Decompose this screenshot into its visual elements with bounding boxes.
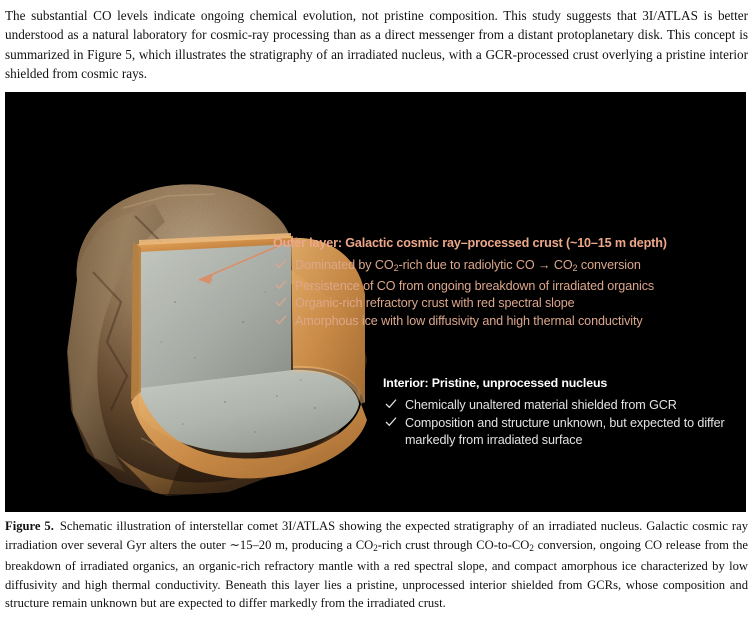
list-item: Composition and structure unknown, but e… — [383, 415, 743, 450]
check-icon — [275, 258, 287, 272]
bullet-text: Persistence of CO from ongoing breakdown… — [295, 279, 654, 293]
check-icon — [385, 398, 397, 412]
figure-panel: Outer layer: Galactic cosmic ray–process… — [5, 92, 746, 512]
bullet-text-cont: -rich due to radiolytic CO → CO — [399, 258, 573, 272]
check-icon — [275, 314, 287, 328]
annotation-outer-heading: Outer layer: Galactic cosmic ray–process… — [273, 235, 743, 251]
figure-page: The substantial CO levels indicate ongoi… — [0, 0, 753, 624]
annotation-interior: Interior: Pristine, unprocessed nucleus … — [383, 375, 743, 450]
bullet-text-cont2: conversion — [577, 258, 640, 272]
caption-label: Figure 5. — [5, 519, 54, 533]
bullet-text: Organic-rich refractory crust with red s… — [295, 296, 575, 310]
bullet-text: Composition and structure unknown, but e… — [405, 416, 725, 448]
interior-bullet-list: Chemically unaltered material shielded f… — [383, 397, 743, 450]
list-item: Chemically unaltered material shielded f… — [383, 397, 743, 415]
check-icon — [275, 279, 287, 293]
bullet-text: Dominated by CO — [295, 258, 394, 272]
annotation-interior-heading: Interior: Pristine, unprocessed nucleus — [383, 375, 743, 391]
list-item: Dominated by CO2-rich due to radiolytic … — [273, 257, 743, 278]
list-item: Organic-rich refractory crust with red s… — [273, 295, 743, 313]
annotation-outer-layer: Outer layer: Galactic cosmic ray–process… — [273, 235, 743, 330]
caption-text-2: -rich crust through CO-to-CO — [378, 538, 530, 552]
list-item: Persistence of CO from ongoing breakdown… — [273, 278, 743, 296]
body-paragraph: The substantial CO levels indicate ongoi… — [5, 6, 748, 84]
figure-caption: Figure 5.Schematic illustration of inter… — [5, 517, 748, 613]
outer-bullet-list: Dominated by CO2-rich due to radiolytic … — [273, 257, 743, 330]
check-icon — [385, 416, 397, 430]
bullet-text: Amorphous ice with low diffusivity and h… — [295, 314, 643, 328]
check-icon — [275, 296, 287, 310]
list-item: Amorphous ice with low diffusivity and h… — [273, 313, 743, 331]
bullet-text: Chemically unaltered material shielded f… — [405, 398, 677, 412]
